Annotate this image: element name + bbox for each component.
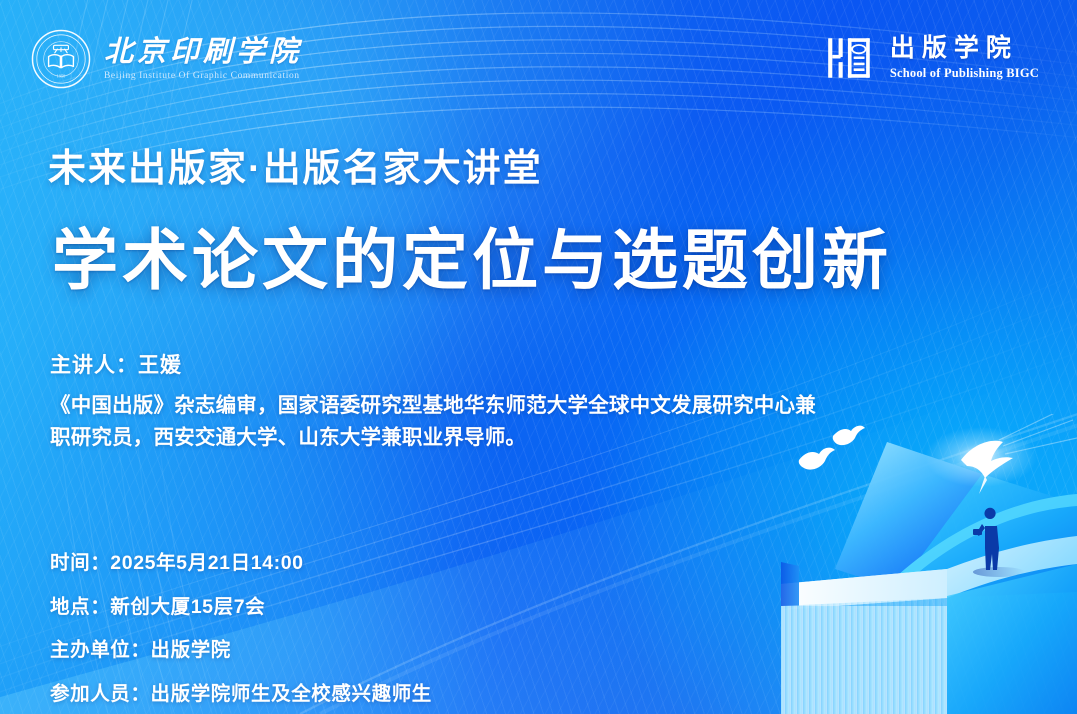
poster-header: 1958 北京印刷学院 Beijing Institute Of Graphic… — [0, 0, 1077, 110]
publishing-seal-icon — [824, 32, 876, 84]
detail-participants: 参加人员：出版学院师生及全校感兴趣师生 — [50, 677, 432, 706]
event-details: 时间：2025年5月21日14:00 地点：新创大厦15层7会 主办单位：出版学… — [50, 546, 432, 706]
school-name-cn: 出版学院 — [890, 36, 1039, 61]
school-logo-group: 出版学院 School of Publishing BIGC — [824, 32, 1039, 84]
detail-time: 时间：2025年5月21日14:00 — [50, 546, 432, 575]
detail-location: 地点：新创大厦15层7会 — [50, 590, 432, 619]
detail-organizer: 主办单位：出版学院 — [50, 633, 432, 662]
university-name-cn: 北京印刷学院 — [104, 37, 302, 67]
svg-text:1958: 1958 — [57, 74, 66, 79]
poster-kicker: 未来出版家·出版名家大讲堂 — [48, 137, 543, 192]
event-poster: 1958 北京印刷学院 Beijing Institute Of Graphic… — [0, 0, 1077, 714]
dove-right-icon — [833, 426, 865, 446]
university-name-en: Beijing Institute Of Graphic Communicati… — [104, 71, 302, 81]
speaker-block: 主讲人：王媛 《中国出版》杂志编审，国家语委研究型基地华东师范大学全球中文发展研… — [50, 349, 850, 454]
dove-left-icon — [799, 448, 835, 470]
book-illustration — [747, 414, 1077, 714]
poster-title: 学术论文的定位与选题创新 — [52, 226, 892, 295]
school-name-en: School of Publishing BIGC — [890, 66, 1039, 81]
speaker-name: 主讲人：王媛 — [50, 349, 850, 379]
speaker-bio: 《中国出版》杂志编审，国家语委研究型基地华东师范大学全球中文发展研究中心兼职研究… — [50, 390, 822, 454]
university-logo-group: 1958 北京印刷学院 Beijing Institute Of Graphic… — [30, 28, 302, 90]
open-book-icon — [781, 442, 1077, 714]
bigc-seal-icon: 1958 — [30, 28, 92, 90]
